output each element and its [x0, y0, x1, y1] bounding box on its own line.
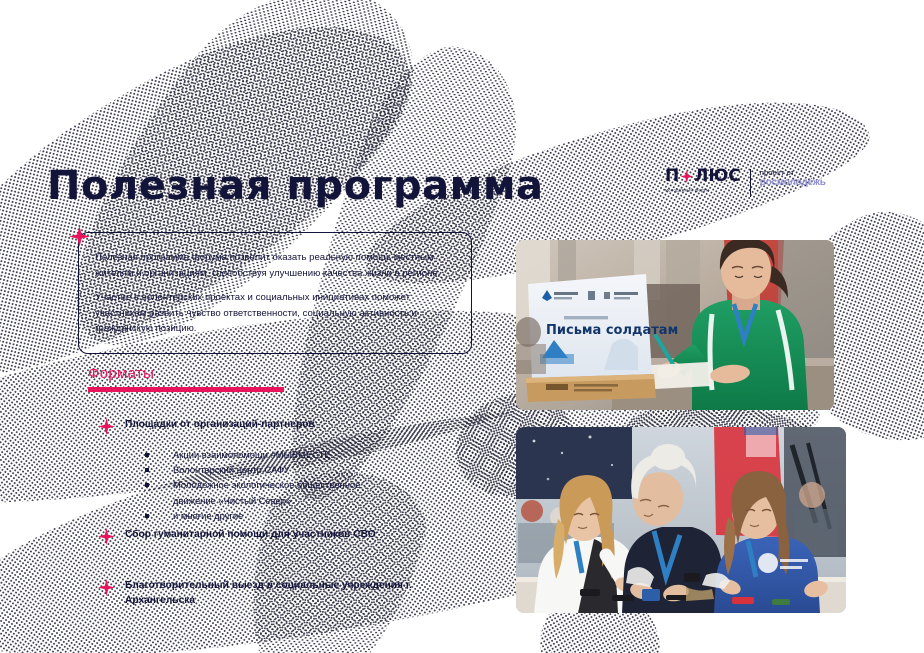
format-item: Сбор гуманитарной помощи для участников … [98, 527, 376, 545]
brand-logo: П ЛЮС молодёжный форум проект от росмоло… [665, 168, 826, 197]
format-item: Благотворительный выезд в социальные учр… [98, 578, 445, 609]
list-item: Волонтерский центр САФУ [145, 462, 360, 477]
slide-root: Полезная программа П ЛЮС молодёжный фору… [0, 0, 924, 653]
photo-letters-to-soldiers: Письма солдатам [516, 240, 834, 410]
logo-wordmark: П ЛЮС [665, 168, 741, 185]
list-item: Акции взаимопомощи #МЫВМЕСТЕ [145, 447, 360, 462]
page-title: Полезная программа [47, 163, 544, 209]
format-item-label: Благотворительный выезд в социальные учр… [125, 578, 445, 609]
list-item: и многие другие [145, 508, 360, 523]
intro-paragraph-2: Участие в волонтерских проектах и социал… [95, 290, 451, 337]
logo-subtitle: молодёжный форум [665, 188, 752, 193]
logo-partner-label: проект от [760, 168, 826, 177]
svg-text:Письма солдатам: Письма солдатам [546, 323, 678, 338]
star-icon [98, 418, 115, 435]
list-item: Молодежное экологическое общественное [145, 477, 360, 492]
formats-section-header: Форматы [88, 365, 284, 392]
logo-main: П ЛЮС молодёжный форум [665, 168, 741, 192]
logo-word-part1: П [665, 168, 679, 185]
list-item-continuation: движение «Чистый Север» [145, 493, 360, 508]
photo-2-illustration [516, 427, 846, 613]
photo-1-illustration: Письма солдатам [516, 240, 834, 410]
photo-workshop-volunteers [516, 427, 846, 613]
logo-partner: проект от росмолодёжь [760, 168, 826, 190]
star-icon [98, 579, 115, 596]
logo-word-part2: ЛЮС [694, 168, 741, 185]
format-sublist: Акции взаимопомощи #МЫВМЕСТЕ Волонтерски… [145, 447, 360, 523]
intro-paragraph-1: Полезная программа форума позволит оказа… [95, 250, 451, 281]
format-item-label: Сбор гуманитарной помощи для участников … [125, 527, 376, 542]
star-icon [98, 528, 115, 545]
formats-title: Форматы [88, 365, 284, 382]
format-item: Площадки от организаций-партнеров [98, 417, 315, 435]
formats-underline [88, 387, 284, 392]
logo-divider [750, 169, 751, 197]
intro-callout: Полезная программа форума позволит оказа… [78, 232, 472, 354]
format-item-label: Площадки от организаций-партнеров [125, 417, 315, 432]
logo-partner-name: росмолодёжь [760, 177, 826, 190]
star-icon [680, 170, 693, 183]
